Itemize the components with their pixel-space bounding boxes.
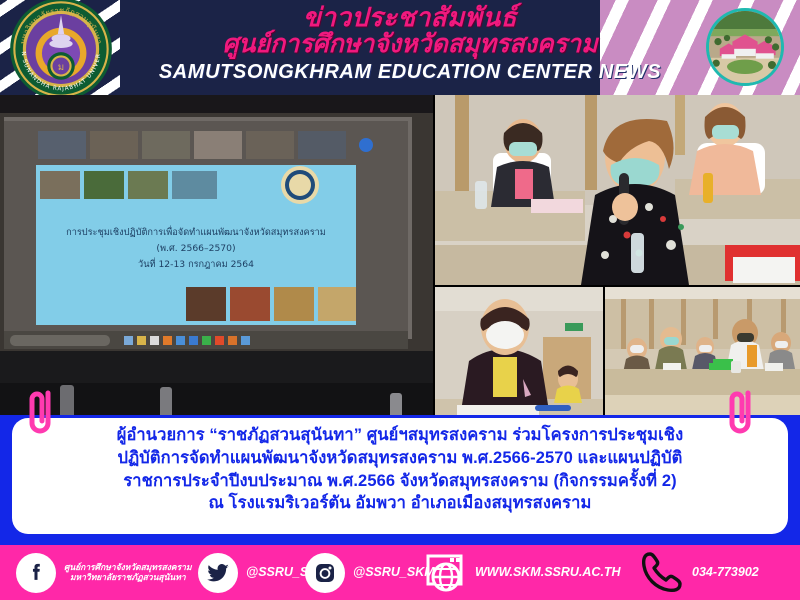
- paperclip-icon-left: [22, 387, 58, 439]
- campus-aerial-photo-icon: [706, 8, 784, 86]
- caption-box: ผู้อำนวยการ “ราชภัฏสวนสุนันทา” ศูนย์ฯสมุ…: [12, 418, 788, 534]
- header-title-thai-2: ศูนย์การศึกษาจังหวัดสมุทรสงคราม: [150, 31, 670, 59]
- header-title-thai-1: ข่าวประชาสัมพันธ์: [150, 4, 670, 31]
- footer-phone-label: 034-773902: [692, 565, 759, 579]
- footer-facebook-label: ศูนย์การศึกษาจังหวัดสมุทรสงคราม มหาวิทยา…: [64, 563, 192, 583]
- website-globe-icon: [425, 552, 467, 594]
- paperclip-icon-right: [722, 387, 758, 439]
- caption-text: ผู้อำนวยการ “ราชภัฏสวนสุนันทา” ศูนย์ฯสมุ…: [30, 424, 770, 515]
- footer-facebook[interactable]: ศูนย์การศึกษาจังหวัดสมุทรสงคราม มหาวิทยา…: [16, 545, 192, 600]
- poster-header: ม มหาวิทยาลัยราชภัฏสวนสุนันทา SUAN SUNAN…: [0, 0, 800, 95]
- caption-band: ผู้อำนวยการ “ราชภัฏสวนสุนันทา” ศูนย์ฯสมุ…: [0, 415, 800, 545]
- contact-footer: ศูนย์การศึกษาจังหวัดสมุทรสงคราม มหาวิทยา…: [0, 545, 800, 600]
- svg-text:ม: ม: [58, 62, 64, 73]
- header-title-english: SAMUTSONGKHRAM EDUCATION CENTER NEWS: [150, 60, 670, 84]
- photo-collage: การประชุมเชิงปฏิบัติการเพื่อจัดทำแผนพัฒน…: [0, 95, 800, 425]
- footer-website-label: WWW.SKM.SSRU.AC.TH: [475, 565, 621, 579]
- caption-line-4: ณ โรงแรมริเวอร์ตัน อัมพวา อำเภอเมืองสมุท…: [30, 492, 770, 515]
- svg-text:การประชุมเชิงปฏิบัติการเพื่อจั: การประชุมเชิงปฏิบัติการเพื่อจัดทำแผนพัฒน…: [66, 225, 326, 238]
- footer-instagram-label: @SSRU_SKM: [353, 565, 435, 579]
- caption-line-1: ผู้อำนวยการ “ราชภัฏสวนสุนันทา” ศูนย์ฯสมุ…: [30, 424, 770, 447]
- photo-meeting-participants: [605, 287, 800, 425]
- svg-text:(พ.ศ. 2566–2570): (พ.ศ. 2566–2570): [156, 243, 235, 254]
- facebook-icon: [16, 553, 56, 593]
- footer-phone[interactable]: 034-773902: [640, 545, 759, 600]
- footer-instagram[interactable]: @SSRU_SKM: [305, 545, 435, 600]
- phone-icon: [640, 550, 684, 596]
- instagram-icon: [305, 553, 345, 593]
- svg-text:วันที่ 12-13 กรกฎาคม 2564: วันที่ 12-13 กรกฎาคม 2564: [138, 257, 254, 270]
- photo-projector-screen: การประชุมเชิงปฏิบัติการเพื่อจัดทำแผนพัฒน…: [0, 95, 433, 425]
- news-poster: ม มหาวิทยาลัยราชภัฏสวนสุนันทา SUAN SUNAN…: [0, 0, 800, 600]
- twitter-icon: [198, 553, 238, 593]
- footer-website[interactable]: WWW.SKM.SSRU.AC.TH: [425, 545, 621, 600]
- university-seal-icon: ม มหาวิทยาลัยราชภัฏสวนสุนันทา SUAN SUNAN…: [8, 0, 114, 95]
- photo-officer-video-call: [435, 287, 603, 425]
- caption-line-3: ราชการประจำปีงบประมาณ พ.ศ.2566 จังหวัดสม…: [30, 470, 770, 493]
- photo-women-with-microphone: [435, 95, 800, 285]
- footer-facebook-label-line2: มหาวิทยาลัยราชภัฏสวนสุนันทา: [64, 573, 192, 583]
- caption-line-2: ปฏิบัติการจัดทำแผนพัฒนาจังหวัดสมุทรสงครา…: [30, 447, 770, 470]
- header-title-block: ข่าวประชาสัมพันธ์ ศูนย์การศึกษาจังหวัดสม…: [150, 4, 670, 84]
